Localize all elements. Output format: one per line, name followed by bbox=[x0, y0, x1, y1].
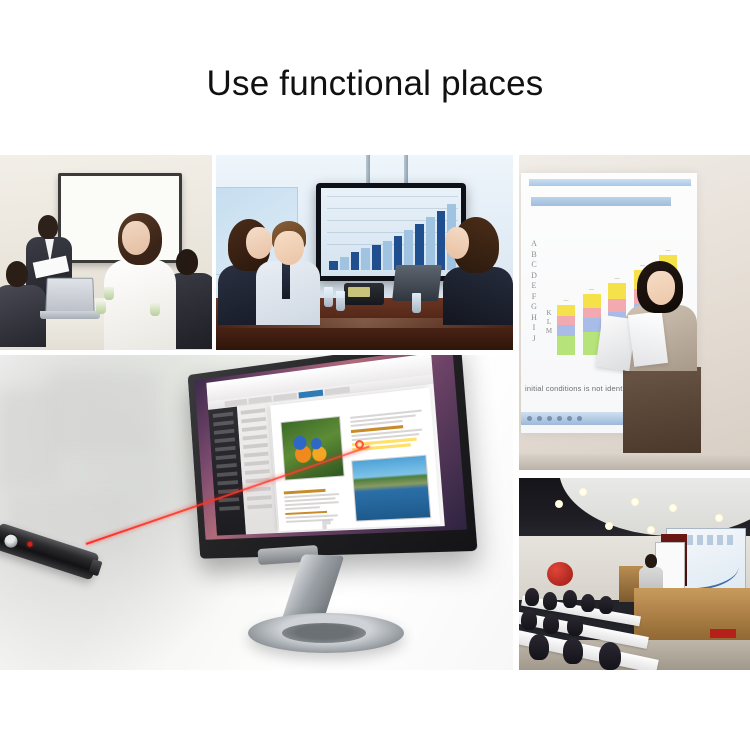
chart-bar bbox=[329, 261, 338, 270]
man-center-tie bbox=[282, 263, 290, 299]
blur-shape bbox=[0, 391, 58, 487]
blur-shape bbox=[52, 373, 156, 451]
laptop-keyboard bbox=[40, 311, 100, 319]
audience-member bbox=[599, 642, 621, 670]
parrot-photo bbox=[280, 416, 344, 481]
chart-bar bbox=[404, 230, 413, 270]
audience-member bbox=[563, 638, 583, 664]
paper-cup bbox=[150, 303, 160, 316]
presenter-face bbox=[647, 271, 675, 305]
photo-collage: ABCDEFGHIJ KLM ————— initial conditions … bbox=[0, 155, 750, 670]
page-title: Use functional places bbox=[0, 62, 750, 106]
slide-chart-bar: — bbox=[557, 298, 575, 355]
woman-right-body bbox=[443, 267, 513, 325]
paper-cup bbox=[104, 287, 114, 300]
mountain-lake-photo bbox=[351, 455, 431, 522]
audience-member bbox=[563, 590, 577, 608]
ceiling-light bbox=[715, 514, 723, 522]
water-glass bbox=[412, 293, 421, 313]
slide-chart-segment bbox=[557, 336, 575, 355]
ceiling-light bbox=[647, 526, 655, 534]
chart-bar bbox=[340, 257, 349, 270]
presenter-skirt bbox=[623, 367, 701, 453]
app-document-page bbox=[270, 387, 440, 531]
audience-member bbox=[543, 614, 559, 634]
ceiling-light bbox=[631, 498, 639, 506]
presenter-main-button bbox=[2, 532, 21, 551]
windows-logo-icon bbox=[322, 520, 331, 529]
speaker-head bbox=[645, 554, 657, 568]
chart-bar bbox=[437, 211, 446, 270]
audience-member bbox=[525, 588, 539, 606]
ceiling-light bbox=[555, 500, 563, 508]
man-center-face bbox=[274, 231, 304, 265]
presenter-projection-photo: ABCDEFGHIJ KLM ————— initial conditions … bbox=[519, 155, 750, 470]
slide-chart-segment bbox=[583, 318, 601, 331]
woman-right-face bbox=[445, 227, 469, 259]
chart-bar bbox=[372, 245, 381, 270]
audience-member bbox=[581, 594, 595, 612]
audience-member bbox=[521, 610, 537, 630]
slide-chart-segment bbox=[608, 299, 626, 312]
audience-member bbox=[567, 616, 583, 636]
seated-man-right-head bbox=[176, 249, 198, 275]
slide-chart-segment bbox=[583, 308, 601, 319]
presenter-folder-right bbox=[628, 311, 668, 367]
standing-man-head bbox=[38, 215, 58, 239]
ceiling-light bbox=[605, 522, 613, 530]
chart-bar bbox=[361, 248, 370, 270]
tv-mount-right bbox=[404, 155, 408, 185]
seated-man-left-head bbox=[6, 261, 28, 287]
tablet-screen bbox=[195, 355, 467, 540]
laser-dot bbox=[355, 440, 364, 449]
slide-window-titlebar bbox=[531, 197, 671, 206]
tablet-stand-base-inner bbox=[282, 623, 366, 643]
slide-axis-labels: ABCDEFGHIJ bbox=[527, 239, 541, 344]
chart-bar bbox=[351, 252, 360, 270]
chart-bar bbox=[415, 224, 424, 270]
red-sign bbox=[710, 629, 736, 638]
chart-bar bbox=[383, 241, 392, 270]
woman-left-face bbox=[246, 227, 272, 259]
slide-chart-segment bbox=[583, 294, 601, 307]
slide-series-labels: KLM bbox=[543, 309, 555, 336]
water-glass bbox=[336, 291, 345, 311]
presenter-foreground-bar bbox=[519, 454, 750, 470]
conference-phone bbox=[344, 283, 384, 305]
audience-member bbox=[543, 592, 557, 610]
laser-pointer-tablet-photo bbox=[0, 355, 513, 670]
slide-chart-segment bbox=[608, 283, 626, 299]
wall-display-screen bbox=[321, 188, 461, 276]
display-bar-chart bbox=[329, 204, 456, 270]
audience-member bbox=[599, 596, 613, 614]
ceiling-light bbox=[579, 488, 587, 496]
chart-bar bbox=[426, 217, 435, 270]
audience-member bbox=[529, 634, 549, 660]
woman-face bbox=[122, 221, 150, 255]
tv-mount-left bbox=[366, 155, 370, 185]
water-glass bbox=[324, 287, 333, 307]
slide-chart-segment bbox=[557, 305, 575, 316]
lecture-hall-photo bbox=[519, 478, 750, 670]
document-left-column bbox=[283, 485, 346, 525]
meeting-room-photo bbox=[0, 155, 212, 350]
paper-cup bbox=[96, 301, 106, 314]
woman-body bbox=[104, 259, 176, 350]
note-app-window bbox=[206, 355, 444, 536]
presenter-led-indicator bbox=[27, 541, 33, 547]
slide-chart-segment bbox=[557, 316, 575, 325]
wall-display bbox=[316, 183, 466, 281]
laptop-screen bbox=[45, 278, 95, 316]
slide-window-chrome-top bbox=[529, 179, 691, 186]
slide-chart-segment bbox=[557, 325, 575, 336]
boardroom-photo bbox=[216, 155, 513, 350]
ceiling-light bbox=[669, 504, 677, 512]
red-decoration-ball bbox=[547, 562, 573, 586]
